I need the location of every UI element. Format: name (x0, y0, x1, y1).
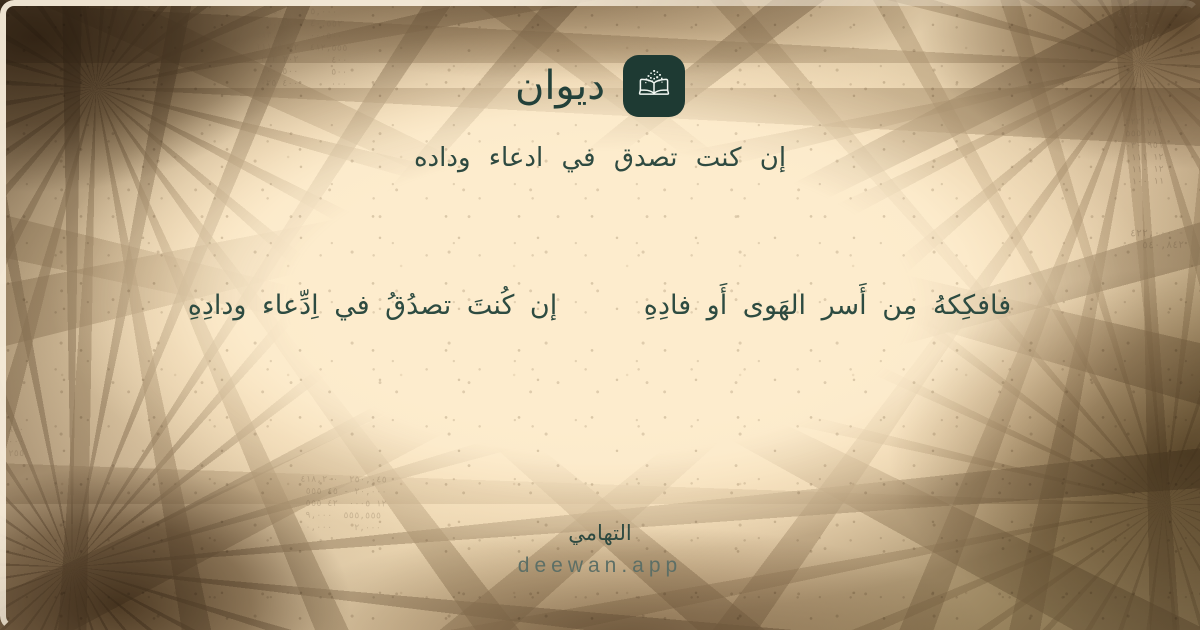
brand-lockup: ديوان (515, 55, 685, 117)
verse-first-hemistich: إن كُنتَ تصدُقُ في اِدِّعاء ودادِهِ (145, 286, 600, 327)
verse-block: إن كُنتَ تصدُقُ في اِدِّعاء ودادِهِ فافك… (0, 286, 1200, 327)
verse-subtitle: إن كنت تصدق في ادعاء وداده (414, 141, 786, 176)
site-url: deewan.app (518, 554, 682, 578)
brand-name: ديوان (515, 66, 605, 106)
poet-name: التهامي (568, 521, 631, 545)
verse-second-hemistich: فافكِكهُ مِن أَسر الهَوى أَو فادِهِ (600, 286, 1055, 327)
card-footer: التهامي deewan.app (0, 521, 1200, 578)
card-content: ديوان إن كنت تصدق في ادعاء وداده إن كُنت… (0, 0, 1200, 630)
share-card: ٤٠,٠٠٠ - ٤٨,٩٠٠ ٤٤ ٥٥٥ ٤٤٥,٠٠٥ ٢٨٥٥٢٥ ٧٨… (0, 0, 1200, 630)
deewan-logo-mark (623, 55, 685, 117)
open-book-sparkles-icon (635, 67, 673, 105)
